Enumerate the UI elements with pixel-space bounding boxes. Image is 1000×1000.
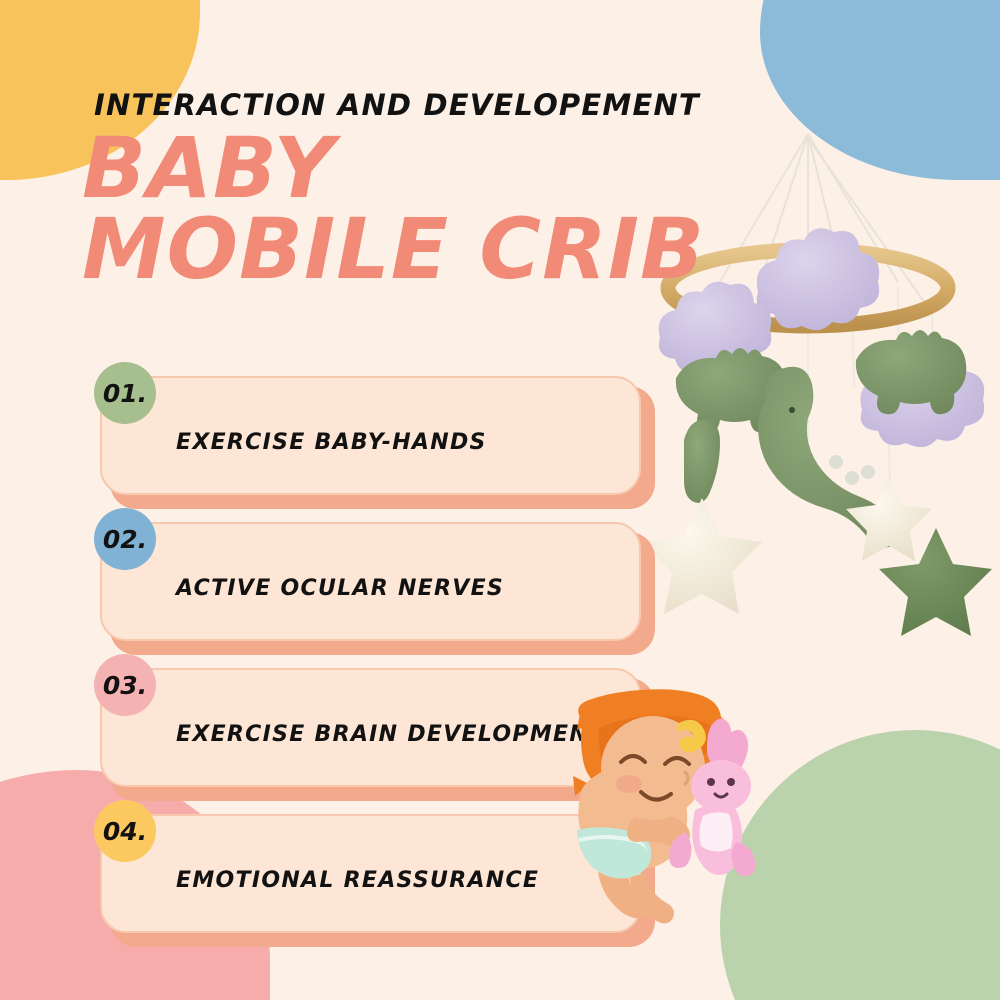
felt-star-cream-large (642, 498, 762, 614)
sleeping-baby-illustration (525, 680, 815, 945)
poster-canvas: INTERACTION AND DEVELOPEMENT BABY MOBILE… (0, 0, 1000, 1000)
benefit-badge-02: 02. (94, 508, 156, 570)
header-block: INTERACTION AND DEVELOPEMENT BABY MOBILE… (82, 88, 742, 291)
benefit-badge-04: 04. (94, 800, 156, 862)
list-item[interactable]: EXERCISE BABY-HANDS 01. (100, 376, 660, 511)
benefit-card[interactable]: EXERCISE BABY-HANDS (100, 376, 641, 495)
benefit-label: ACTIVE OCULAR NERVES (176, 576, 504, 601)
page-title: BABY MOBILE CRIB (82, 128, 722, 291)
benefit-label: EMOTIONAL REASSURANCE (176, 868, 539, 893)
list-item[interactable]: ACTIVE OCULAR NERVES 02. (100, 522, 660, 657)
benefit-badge-01: 01. (94, 362, 156, 424)
kicker-text: INTERACTION AND DEVELOPEMENT (94, 88, 742, 122)
benefit-badge-03: 03. (94, 654, 156, 716)
felt-star-cream-small (846, 478, 932, 561)
benefit-card[interactable]: ACTIVE OCULAR NERVES (100, 522, 641, 641)
benefit-label: EXERCISE BABY-HANDS (176, 430, 487, 455)
felt-dino-tail-left (684, 420, 720, 503)
